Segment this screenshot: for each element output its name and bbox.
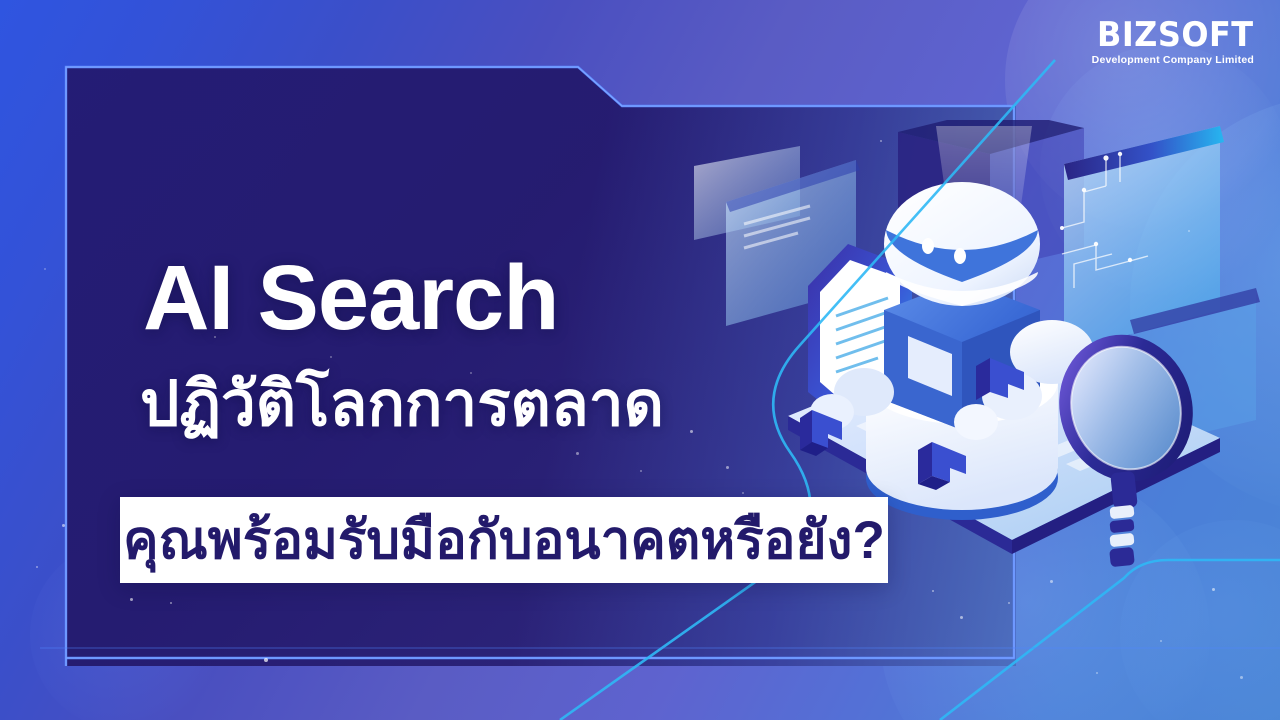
page-title: AI Search [143,252,558,344]
callout-banner-text: คุณพร้อมรับมือกับอนาคตหรือยัง? [123,514,885,567]
particle [44,268,46,270]
callout-banner: คุณพร้อมรับมือกับอนาคตหรือยัง? [120,497,888,583]
particle [62,524,65,527]
particle [1240,676,1243,679]
logo-tagline: Development Company Limited [1087,55,1254,66]
particle [1096,672,1098,674]
page-subtitle: ปฏิวัติโลกการตลาด [140,374,664,436]
banner-canvas: AI Search ปฏิวัติโลกการตลาด คุณพร้อมรับม… [0,0,1280,720]
bizsoft-logo: BIZSOFT Development Company Limited [1087,18,1254,66]
particle [36,566,38,568]
logo-wordmark: BIZSOFT [1097,18,1254,52]
particle [1160,640,1162,642]
